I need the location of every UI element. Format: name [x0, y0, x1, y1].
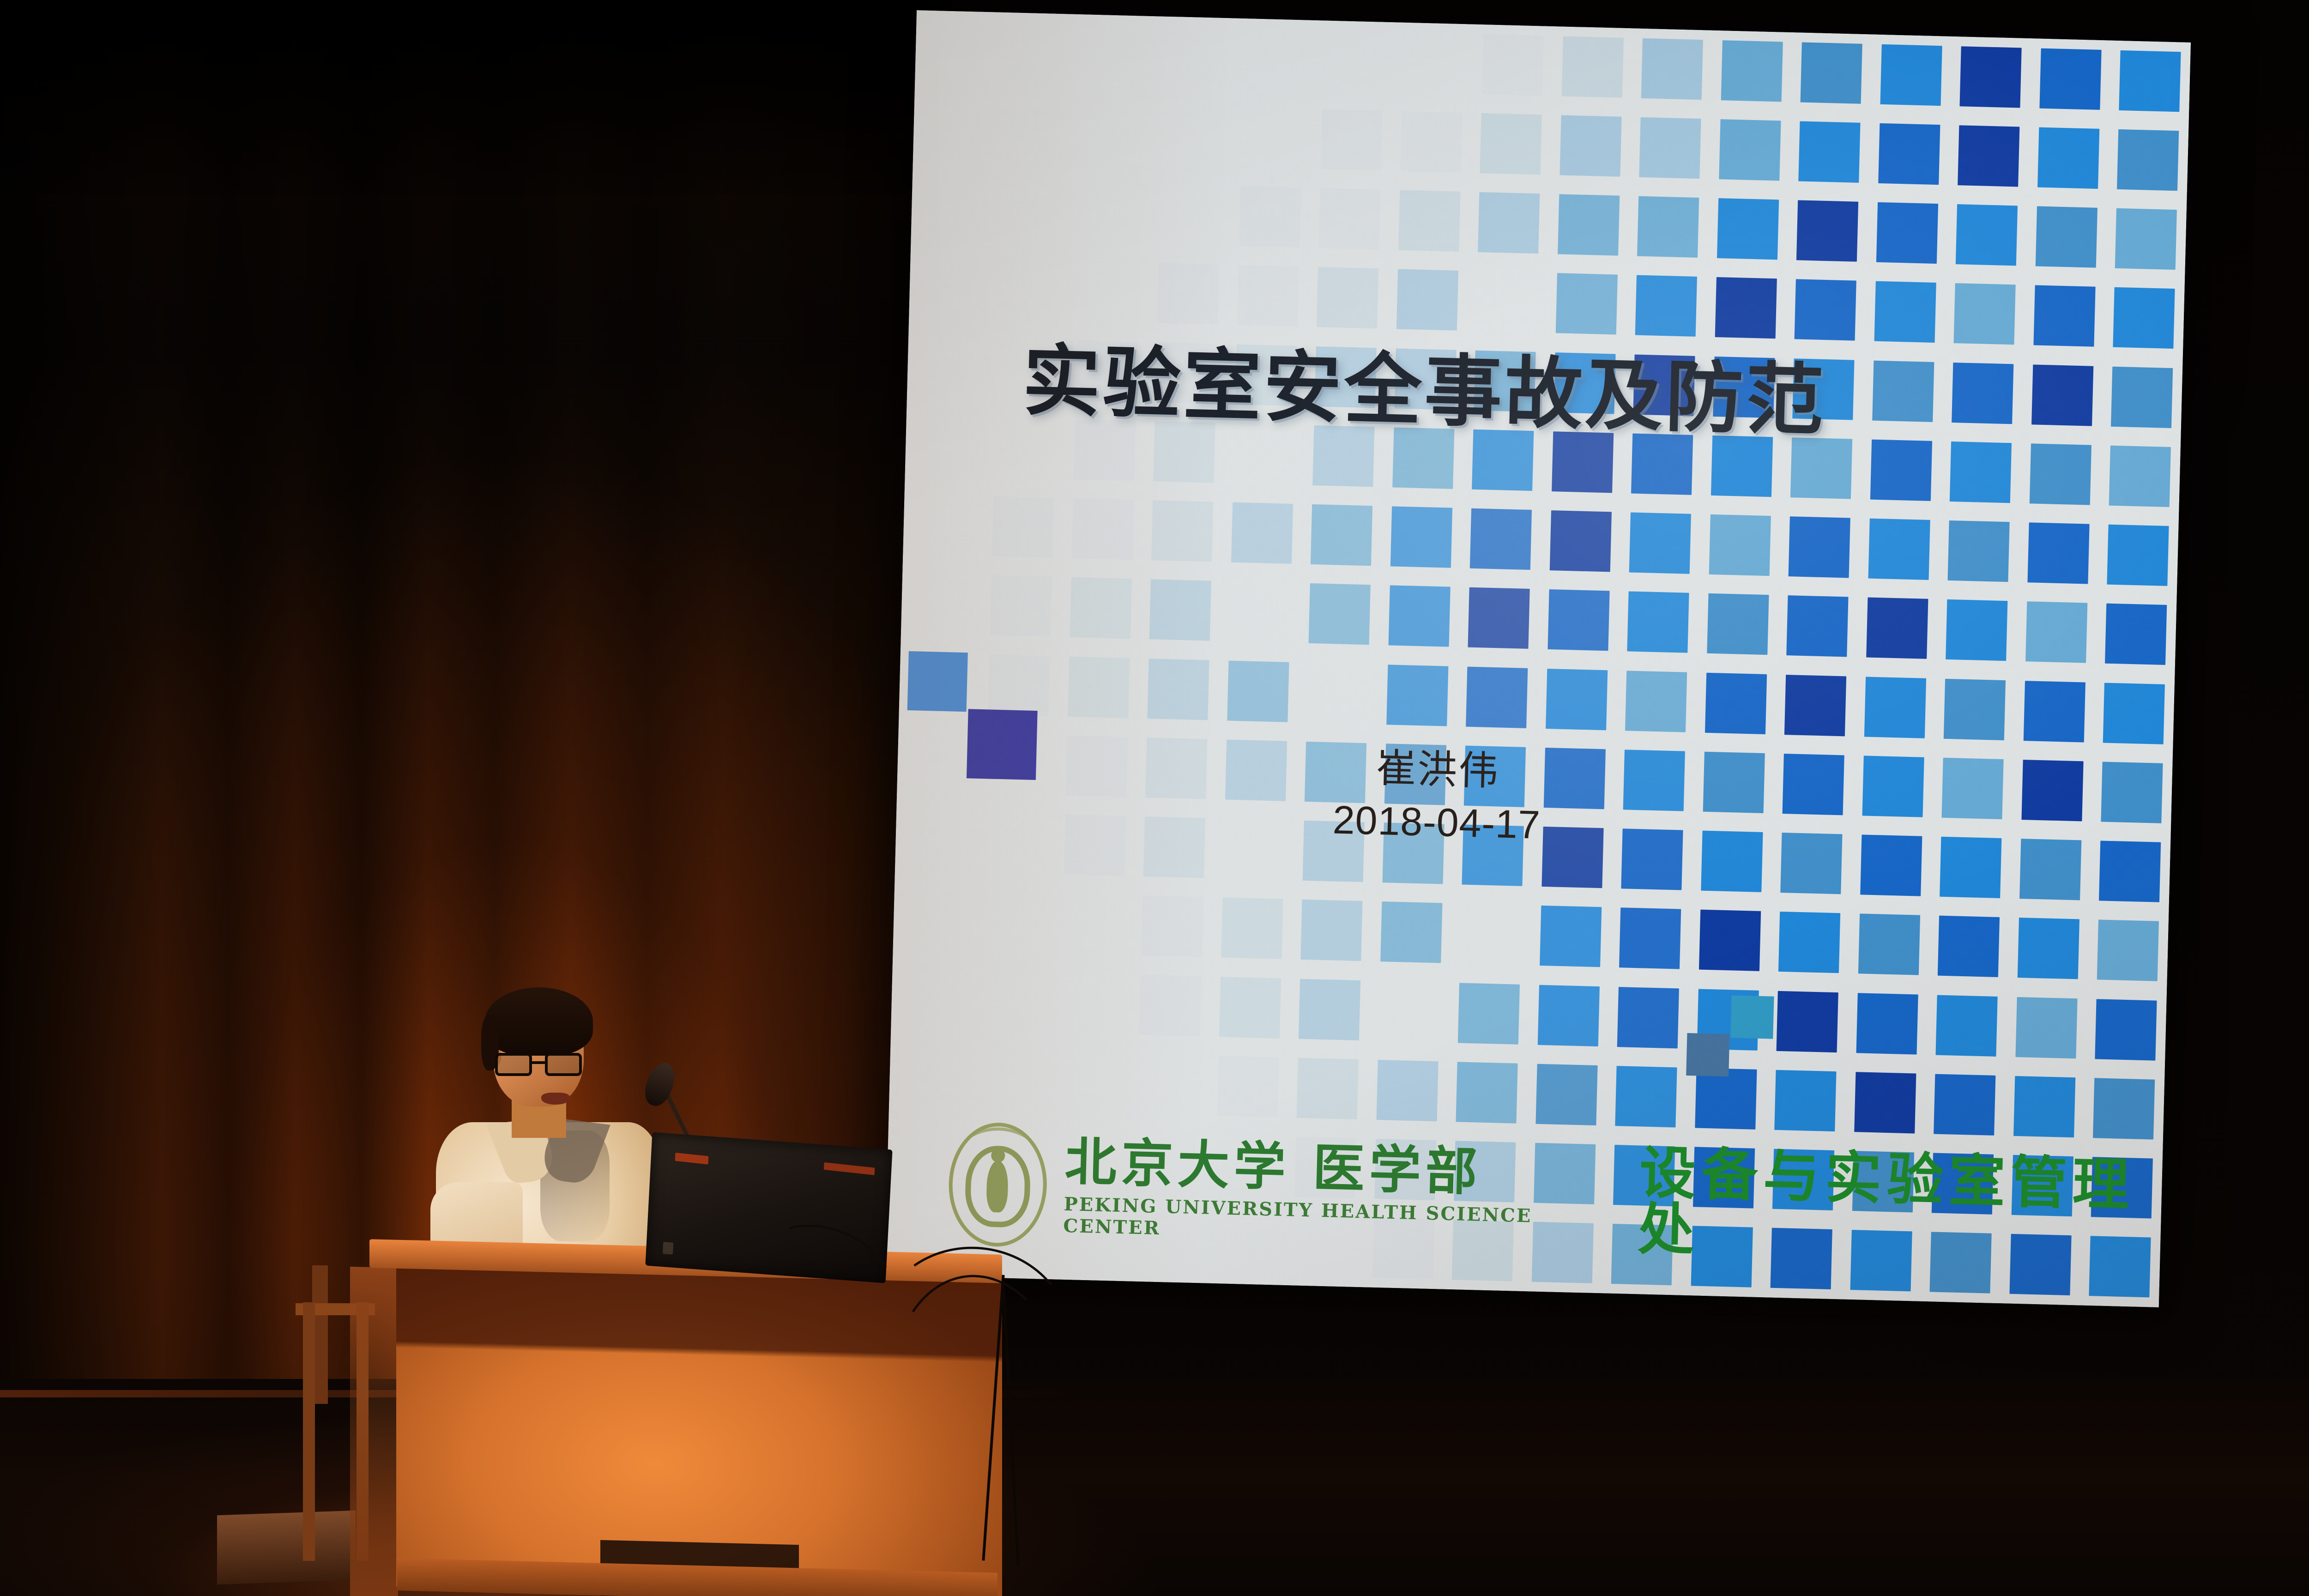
mosaic-cell [1548, 184, 1630, 266]
mosaic-cell [1231, 97, 1313, 179]
presenter-mouth [541, 1093, 570, 1105]
mosaic-cell [2097, 515, 2179, 596]
mosaic-cell [1058, 647, 1140, 728]
mosaic-cell [1926, 985, 2007, 1066]
mosaic-cell [1137, 649, 1219, 730]
mosaic-cell [1773, 744, 1855, 825]
mosaic-cell [2030, 38, 2111, 120]
mosaic-cell [1779, 507, 1861, 588]
mosaic-cell [1299, 574, 1381, 655]
mosaic-cell [1448, 973, 1530, 1054]
mosaic-cell [1629, 107, 1711, 188]
mosaic-cell [2103, 278, 2185, 359]
mosaic-cell [1219, 572, 1301, 653]
mosaic-cell [1538, 580, 1620, 661]
mosaic-cell [1856, 588, 1938, 669]
mosaic-cell [893, 880, 974, 961]
mosaic-cell [1530, 896, 1612, 977]
mosaic-cell [1072, 93, 1154, 175]
mosaic-cell [1377, 655, 1458, 736]
mosaic-cell [895, 801, 976, 882]
mosaic-cell [2019, 434, 2101, 515]
slide-byline: 崔洪伟 2018-04-17 [1182, 738, 1692, 855]
mosaic-cell [1472, 24, 1554, 106]
mosaic-cell [1932, 748, 2013, 829]
mosaic-cell [1528, 975, 1609, 1056]
mosaic-cell [1233, 18, 1315, 99]
mosaic-cell [1217, 651, 1299, 732]
mosaic-cell [2024, 276, 2105, 357]
mosaic-cell [1769, 902, 1850, 983]
mosaic-cell [1844, 1062, 1926, 1143]
mosaic-cell [2004, 1066, 2085, 1148]
mosaic-cell [1149, 174, 1231, 255]
mosaic-cell [1608, 977, 1689, 1058]
mosaic-cell [2085, 989, 2167, 1070]
mosaic-cell [903, 484, 985, 566]
mosaic-cell [2107, 120, 2189, 201]
glasses-icon [495, 1053, 586, 1078]
mosaic-cell [1866, 193, 1948, 274]
mosaic-cell [1858, 509, 1940, 590]
mosaic-cell [905, 405, 986, 487]
university-name-en: PEKING UNIVERSITY HEALTH SCIENCE CENTER [1063, 1193, 1602, 1250]
mosaic-cell [1056, 725, 1138, 807]
mosaic-cell [2091, 752, 2173, 833]
mosaic-cell [2018, 513, 2099, 594]
mosaic-cell [1791, 32, 1873, 114]
mosaic-cell [1948, 115, 2030, 197]
mosaic-cell [1846, 983, 1928, 1064]
mosaic-cell [1609, 898, 1691, 979]
mosaic-cell [2087, 910, 2169, 991]
mosaic-cell [1062, 489, 1144, 570]
mosaic-cell [1767, 981, 1849, 1062]
mosaic-cell [891, 959, 973, 1040]
mosaic-cell [1211, 888, 1293, 969]
mosaic-cell [1946, 194, 2028, 276]
slide-title: 实验室安全事故及防范 [1022, 318, 1902, 452]
mosaic-cell [990, 170, 1072, 252]
mosaic-cell [1540, 501, 1621, 582]
mosaic-cell [972, 882, 1054, 963]
mosaic-cell [2099, 435, 2181, 517]
mosaic-cell [1152, 95, 1233, 176]
mosaic-cell [1060, 568, 1142, 649]
mosaic-cell [1854, 667, 1936, 748]
mosaic-cell [2012, 750, 2093, 831]
mosaic-cell [1378, 576, 1460, 657]
mosaic-cell [994, 12, 1076, 93]
mosaic-cell [1848, 904, 1930, 985]
mosaic-cell [1691, 821, 1773, 902]
mosaic-cell [2025, 197, 2107, 278]
mosaic-cell [1765, 1060, 1846, 1142]
mosaic-cell [1368, 971, 1450, 1052]
mosaic-cell [1787, 190, 1868, 272]
mosaic-cell [1074, 14, 1156, 96]
projection-screen: 实验室安全事故及防范 崔洪伟 2018-04-17 北京大学 医学部 PEKIN… [885, 10, 2191, 1307]
mosaic-cell [1070, 172, 1152, 254]
mosaic-cell [2010, 829, 2091, 910]
presentation-slide: 实验室安全事故及防范 崔洪伟 2018-04-17 北京大学 医学部 PEKIN… [885, 10, 2191, 1307]
mosaic-cell [1711, 30, 1793, 112]
mosaic-cell [982, 487, 1064, 568]
mosaic-cell [2095, 594, 2177, 675]
mosaic-cell [909, 248, 991, 329]
mosaic-cell [1313, 20, 1395, 102]
mosaic-cell [2105, 199, 2187, 280]
mosaic-cell [1605, 1056, 1687, 1137]
mosaic-cell [2089, 831, 2171, 912]
mosaic-cell [1390, 101, 1472, 182]
mosaic-cell [1130, 965, 1211, 1046]
mosaic-cell [1950, 36, 2031, 118]
mosaic-cell [974, 803, 1056, 884]
curtain-top-shadow [0, 0, 951, 194]
mosaic-cell [1229, 176, 1311, 258]
mosaic-cell [1707, 188, 1789, 270]
mosaic-cell [1620, 502, 1701, 584]
mosaic-cell [1617, 582, 1699, 663]
mosaic-cell [1297, 653, 1378, 734]
mosaic-cell [1632, 28, 1713, 109]
mosaic-cell [1289, 969, 1371, 1050]
accent-square-cyan [1730, 995, 1774, 1039]
thinkpad-logo-icon [675, 1153, 709, 1165]
mosaic-cell [1924, 1064, 2006, 1145]
mosaic-cell [2007, 908, 2089, 989]
mosaic-cell [1140, 569, 1221, 651]
mosaic-cell [1309, 178, 1390, 260]
mosaic-cell [2028, 117, 2110, 199]
mosaic-cell [1689, 900, 1771, 981]
mosaic-cell [2083, 1068, 2165, 1149]
mosaic-cell [1693, 742, 1775, 823]
mosaic-cell [913, 89, 994, 170]
mosaic-cell [2093, 673, 2175, 754]
mosaic-cell [1870, 34, 1952, 115]
mosaic-cell [2022, 355, 2103, 436]
mosaic-cell [911, 168, 992, 249]
mosaic-cell [1775, 665, 1856, 746]
mosaic-cell [1699, 505, 1781, 586]
mosaic-cell [1209, 967, 1291, 1048]
department-name-cn: 设备与实验室管理处 [1638, 1144, 2163, 1270]
mosaic-cell [915, 10, 997, 91]
mosaic-cell [1938, 511, 2019, 592]
mosaic-cell [1615, 661, 1697, 742]
mosaic-cell [1291, 890, 1372, 971]
mosaic-cell [1450, 894, 1532, 975]
mosaic-cell [1470, 103, 1552, 185]
mosaic-cell [1944, 273, 2025, 355]
university-name-cn: 北京大学 医学部 [1064, 1136, 1603, 1201]
mosaic-cell [2013, 671, 2095, 752]
mosaic-cell [1287, 1048, 1369, 1129]
mosaic-cell [1536, 659, 1618, 740]
mosaic-cell [1311, 99, 1393, 181]
mosaic-cell [1389, 181, 1470, 262]
accent-square-medium-blue [907, 651, 968, 712]
mosaic-cell [1942, 353, 2024, 434]
mosaic-cell [1142, 490, 1223, 572]
mosaic-cell [992, 91, 1074, 173]
mosaic-cell [1697, 584, 1779, 665]
mosaic-cell [1852, 746, 1934, 827]
mosaic-cell [1709, 109, 1791, 191]
mosaic-cell [1456, 657, 1538, 738]
mosaic-cell [1128, 1044, 1209, 1125]
accent-square-steel [1686, 1033, 1729, 1076]
mosaic-cell [1131, 886, 1213, 967]
mosaic-cell [1154, 16, 1235, 97]
mosaic-cell [907, 326, 988, 408]
mosaic-cell [980, 566, 1062, 647]
mosaic-cell [1392, 22, 1474, 103]
mosaic-cell [1052, 884, 1134, 965]
mosaic-cell [1695, 663, 1777, 744]
mosaic-cell [1928, 906, 2010, 987]
mosaic-cell [1446, 1052, 1528, 1133]
mosaic-cell [2006, 987, 2087, 1068]
mosaic-cell [1221, 493, 1303, 574]
lenovo-logo-icon [824, 1162, 875, 1175]
mosaic-cell [1550, 105, 1632, 187]
mosaic-cell [897, 722, 979, 803]
mosaic-cell [1777, 586, 1858, 667]
mosaic-cell [2109, 40, 2191, 121]
mosaic-cell [1771, 823, 1852, 904]
mosaic-cell [1380, 496, 1462, 578]
mosaic-cell [889, 1038, 970, 1119]
mosaic-cell [1934, 669, 2016, 750]
mosaic-cell [1468, 182, 1550, 264]
university-name-block: 北京大学 医学部 PEKING UNIVERSITY HEALTH SCIENC… [1063, 1136, 1603, 1250]
mosaic-cell [1460, 499, 1542, 580]
university-seal-icon [945, 1119, 1050, 1251]
mosaic-cell [968, 1040, 1050, 1121]
mosaic-cell [1050, 963, 1132, 1044]
mosaic-cell [901, 563, 982, 645]
mosaic-cell [1930, 827, 2012, 908]
mosaic-cell [2016, 592, 2097, 673]
auditorium-scene: 实验室安全事故及防范 崔洪伟 2018-04-17 北京大学 医学部 PEKIN… [0, 0, 2309, 1596]
mosaic-cell [1936, 590, 2018, 671]
mosaic-cell [1552, 26, 1633, 108]
mosaic-cell [1054, 805, 1136, 886]
accent-square-indigo [967, 709, 1038, 780]
mosaic-cell [1207, 1046, 1289, 1127]
mosaic-cell [1048, 1042, 1130, 1123]
mosaic-cell [1526, 1054, 1608, 1135]
mosaic-cell [1789, 111, 1870, 193]
mosaic-cell [1458, 578, 1540, 659]
mosaic-cell [1366, 1050, 1448, 1131]
mosaic-cell [2101, 357, 2183, 438]
mosaic-cell [1868, 114, 1950, 195]
mosaic-cell [1940, 432, 2022, 513]
presenter-hair [485, 987, 593, 1056]
mosaic-cell [1850, 825, 1932, 906]
mosaic-cell [1371, 892, 1452, 973]
mosaic-cell [1301, 495, 1383, 576]
mosaic-cell [1627, 187, 1709, 268]
blue-mosaic-grid [885, 10, 2191, 1307]
mosaic-cell [970, 961, 1052, 1042]
